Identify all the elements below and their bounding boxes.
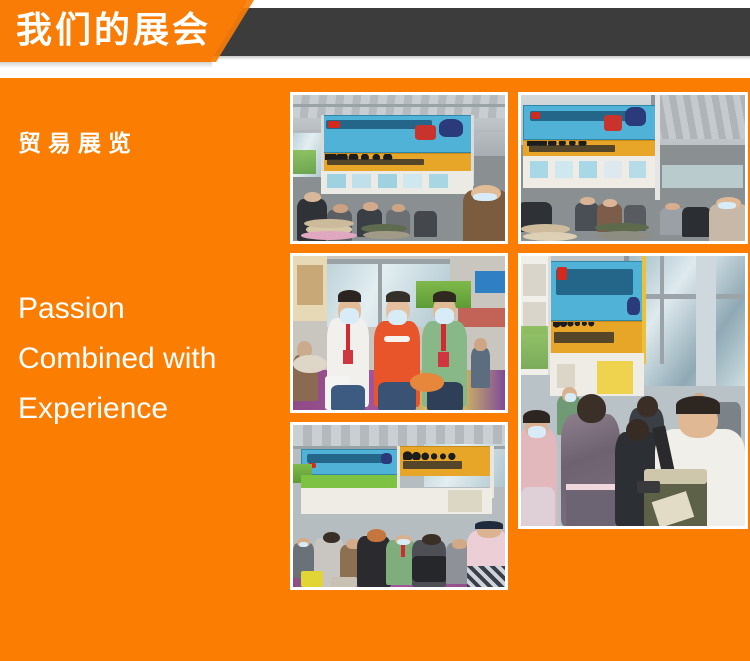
gallery-photo-4[interactable]: [518, 253, 748, 529]
photo-3-image: [293, 256, 505, 410]
section-subtitle-cn: 贸易展览: [18, 124, 138, 158]
content-panel: 贸易展览 Passion Combined with Experience: [0, 78, 750, 661]
photo-1-image: [293, 95, 505, 241]
tagline-line-1: Passion: [18, 284, 268, 334]
header-dark-bar-shadow: [190, 56, 750, 60]
gallery-photo-3[interactable]: [290, 253, 508, 413]
tagline-line-3: Experience: [18, 384, 268, 434]
gallery-photo-5[interactable]: [290, 422, 508, 590]
page-title: 我们的展会: [16, 6, 211, 56]
photo-5-image: [293, 425, 505, 587]
tagline-line-2: Combined with: [18, 334, 268, 384]
page-header: 我们的展会: [0, 0, 750, 62]
gallery-photo-2[interactable]: [518, 92, 748, 244]
photo-2-image: [521, 95, 745, 241]
header-ribbon-shadow: [0, 62, 212, 68]
header-dark-bar: [190, 8, 750, 56]
photo-4-image: [521, 256, 745, 526]
tagline-block: Passion Combined with Experience: [18, 284, 268, 434]
gallery-photo-1[interactable]: [290, 92, 508, 244]
